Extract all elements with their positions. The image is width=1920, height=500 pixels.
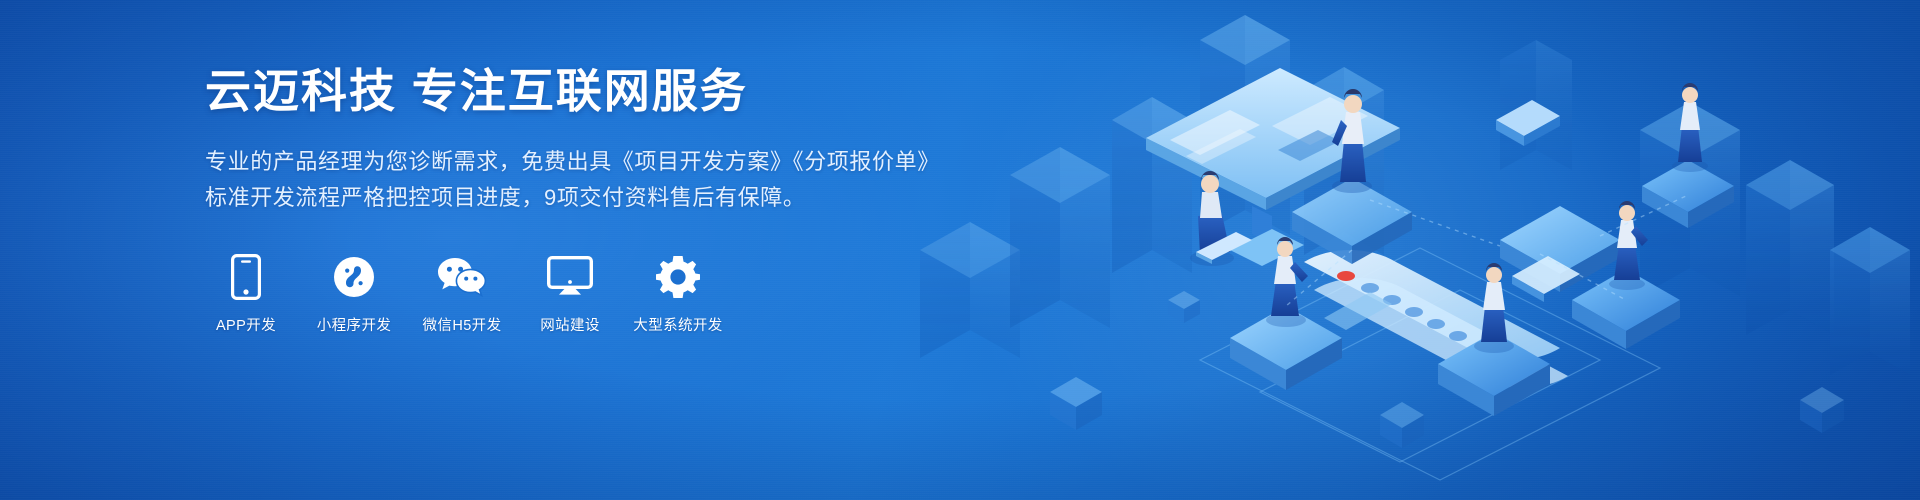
service-item-large-system[interactable]: 大型系统开发 [637, 254, 719, 335]
service-label-wechat: 微信H5开发 [423, 314, 502, 335]
mini-program-icon [333, 254, 375, 300]
banner-content: 云迈科技 专注互联网服务 专业的产品经理为您诊断需求，免费出具《项目开发方案》《… [205, 64, 965, 335]
phone-icon [231, 254, 261, 300]
isometric-illustration [900, 0, 1920, 500]
service-label-app: APP开发 [216, 314, 276, 335]
service-label-website: 网站建设 [540, 314, 600, 335]
banner-subtitle-line-1: 专业的产品经理为您诊断需求，免费出具《项目开发方案》《分项报价单》 [205, 144, 965, 180]
service-icon-row: APP开发 小程序开发 [205, 254, 965, 335]
service-item-wechat[interactable]: 微信H5开发 [421, 254, 503, 335]
wechat-icon [437, 254, 487, 300]
service-label-large-system: 大型系统开发 [633, 314, 722, 335]
service-label-mini-program: 小程序开发 [317, 314, 392, 335]
service-item-mini-program[interactable]: 小程序开发 [313, 254, 395, 335]
promotional-banner: 云迈科技 专注互联网服务 专业的产品经理为您诊断需求，免费出具《项目开发方案》《… [0, 0, 1920, 500]
gear-icon [656, 254, 700, 300]
banner-headline: 云迈科技 专注互联网服务 [205, 64, 965, 118]
monitor-icon [547, 254, 593, 300]
service-item-website[interactable]: 网站建设 [529, 254, 611, 335]
banner-subtitle-line-2: 标准开发流程严格把控项目进度，9项交付资料售后有保障。 [205, 180, 965, 216]
accent-dot [1337, 271, 1355, 281]
service-item-app[interactable]: APP开发 [205, 254, 287, 335]
